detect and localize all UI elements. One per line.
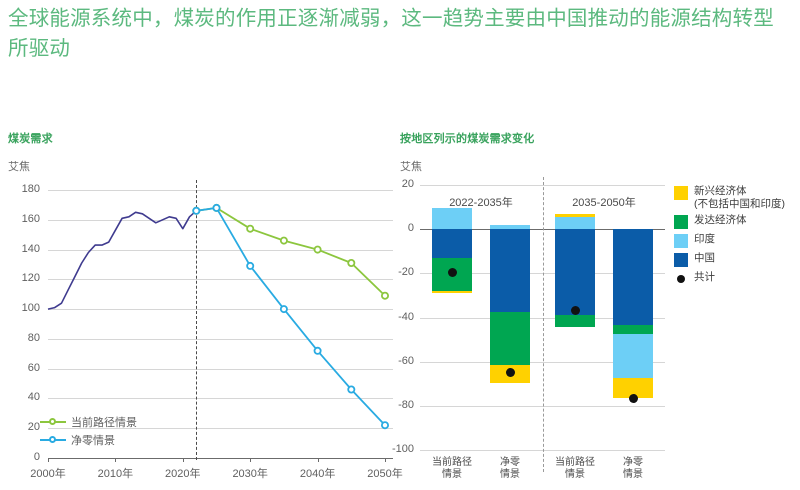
bar-segment-新兴经济体(不包括中国和印度)[interactable] — [555, 214, 595, 217]
right-chart-legend: 新兴经济体(不包括中国和印度)发达经济体印度中国共计 — [674, 185, 800, 288]
bar-segment-中国[interactable] — [432, 229, 472, 258]
dot-icon — [677, 275, 685, 283]
legend-label: 新兴经济体(不包括中国和印度) — [694, 185, 785, 210]
bar-x-axis-label: 净零情景 — [598, 457, 668, 481]
y-axis-tick-label: -20 — [372, 266, 414, 278]
legend-color-swatch — [674, 253, 688, 267]
bar-segment-发达经济体[interactable] — [490, 312, 530, 365]
bar-segment-印度[interactable] — [432, 208, 472, 229]
legend-label: 发达经济体 — [694, 214, 747, 227]
bar-segment-印度[interactable] — [613, 334, 653, 378]
total-marker-dot — [571, 306, 580, 315]
bar-segment-中国[interactable] — [613, 229, 653, 325]
bar-group-label: 2035-2050年 — [544, 194, 664, 210]
legend-label: 中国 — [694, 252, 715, 265]
legend-total-dot-icon — [674, 275, 688, 283]
legend-label: 印度 — [694, 233, 715, 246]
legend-item-印度[interactable]: 印度 — [674, 233, 800, 248]
y-axis-tick-label: -60 — [372, 355, 414, 367]
bar-segment-中国[interactable] — [555, 229, 595, 315]
bar-segment-发达经济体[interactable] — [613, 325, 653, 334]
group-divider — [543, 177, 544, 472]
bar-x-axis-label: 净零情景 — [475, 457, 545, 481]
screenshot-root: 全球能源系统中，煤炭的作用正逐渐减弱，这一趋势主要由中国推动的能源结构转型所驱动… — [0, 0, 800, 490]
y-axis-tick-label: -80 — [372, 399, 414, 411]
total-marker-dot — [448, 268, 457, 277]
legend-item-新兴经济体[interactable]: 新兴经济体(不包括中国和印度) — [674, 185, 800, 210]
legend-item-发达经济体[interactable]: 发达经济体 — [674, 214, 800, 229]
y-axis-tick-label: 20 — [372, 178, 414, 190]
legend-color-swatch — [674, 215, 688, 229]
bar-segment-印度[interactable] — [555, 217, 595, 229]
y-axis-tick-label: 0 — [372, 222, 414, 234]
bar-segment-中国[interactable] — [490, 229, 530, 312]
y-axis-tick-label: -100 — [372, 443, 414, 455]
bar-segment-发达经济体[interactable] — [555, 315, 595, 327]
y-axis-tick-label: -40 — [372, 311, 414, 323]
legend-color-swatch — [674, 234, 688, 248]
legend-item-中国[interactable]: 中国 — [674, 252, 800, 267]
total-marker-dot — [629, 394, 638, 403]
total-marker-dot — [506, 368, 515, 377]
legend-color-swatch — [674, 186, 688, 200]
bar-segment-新兴经济体(不包括中国和印度)[interactable] — [432, 291, 472, 293]
legend-label: 共计 — [694, 271, 715, 284]
legend-item-共计[interactable]: 共计 — [674, 271, 800, 284]
